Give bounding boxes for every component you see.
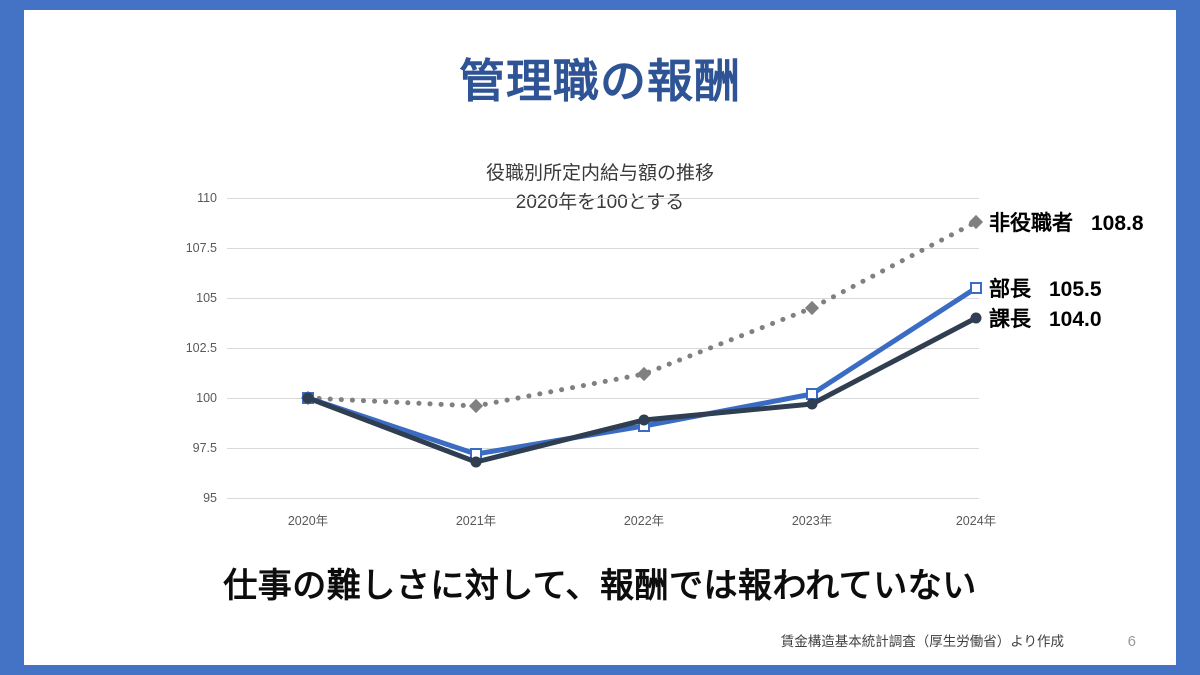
- slide-frame: 管理職の報酬 役職別所定内給与額の推移 2020年を100とする 9597.51…: [0, 0, 1200, 675]
- page-number: 6: [1128, 633, 1136, 650]
- series-label-value: 104.0: [1049, 308, 1102, 332]
- slide-caption: 仕事の難しさに対して、報酬では報われていない: [24, 558, 1176, 607]
- series-label-value: 105.5: [1049, 278, 1102, 302]
- data-point-marker: [471, 457, 482, 468]
- series-line-課長: [308, 318, 976, 462]
- series-label-部長: 部長105.5: [989, 273, 1102, 303]
- series-label-name: 部長: [989, 278, 1031, 301]
- data-point-marker: [303, 393, 314, 404]
- data-point-marker: [807, 389, 817, 399]
- series-label-非役職者: 非役職者108.8: [989, 207, 1144, 237]
- series-label-name: 課長: [989, 308, 1031, 331]
- series-label-value: 108.8: [1091, 212, 1144, 236]
- data-point-marker: [639, 415, 650, 426]
- data-point-marker: [971, 313, 982, 324]
- data-point-marker: [469, 399, 483, 413]
- slide-content: 管理職の報酬 役職別所定内給与額の推移 2020年を100とする 9597.51…: [24, 10, 1176, 665]
- data-point-marker: [971, 283, 981, 293]
- data-point-marker: [807, 399, 818, 410]
- data-point-marker: [805, 301, 819, 315]
- series-label-name: 非役職者: [989, 212, 1073, 235]
- series-label-課長: 課長104.0: [989, 303, 1102, 333]
- source-note: 賃金構造基本統計調査（厚生労働省）より作成: [781, 630, 1064, 650]
- data-point-marker: [637, 367, 651, 381]
